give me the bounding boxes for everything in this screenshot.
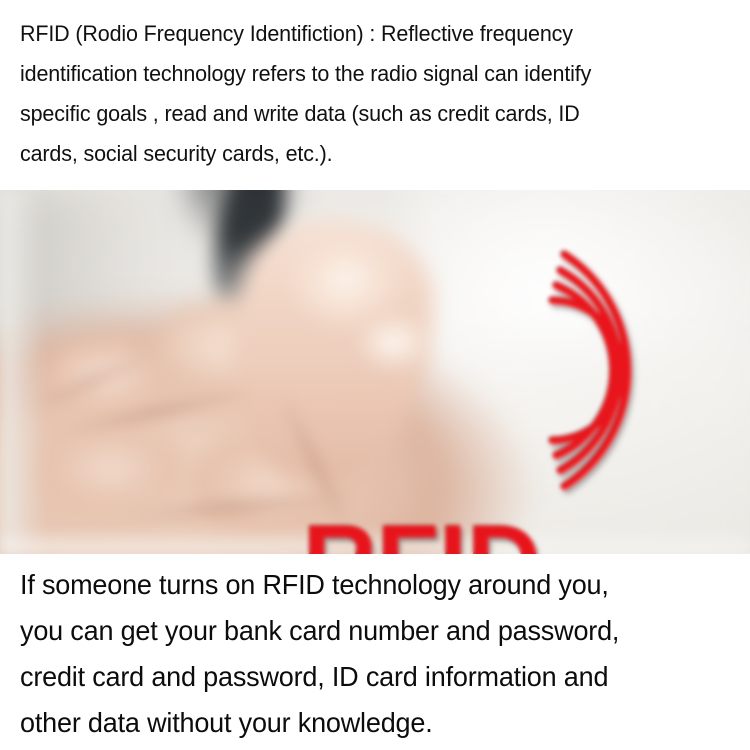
definition-line-2: identification technology refers to the … bbox=[20, 54, 704, 94]
rfid-warning-paragraph: If someone turns on RFID technology arou… bbox=[0, 554, 750, 750]
rfid-hand-photo: RFID bbox=[0, 190, 750, 554]
definition-line-1: RFID (Rodio Frequency Identifiction) : R… bbox=[20, 14, 704, 54]
definition-line-3: specific goals , read and write data (su… bbox=[20, 94, 704, 134]
photo-left-edge-fade bbox=[0, 190, 45, 554]
definition-line-4: cards, social security cards, etc.). bbox=[20, 134, 704, 174]
warning-line-4: other data without your knowledge. bbox=[20, 700, 715, 746]
photo-bottom-edge-fade bbox=[0, 529, 750, 554]
warning-line-3: credit card and password, ID card inform… bbox=[20, 654, 715, 700]
rfid-product-infographic: RFID (Rodio Frequency Identifiction) : R… bbox=[0, 0, 750, 750]
photo-fingernail bbox=[353, 314, 436, 376]
warning-line-2: you can get your bank card number and pa… bbox=[20, 608, 715, 654]
warning-line-1: If someone turns on RFID technology arou… bbox=[20, 562, 715, 608]
rfid-definition-paragraph: RFID (Rodio Frequency Identifiction) : R… bbox=[0, 0, 750, 190]
